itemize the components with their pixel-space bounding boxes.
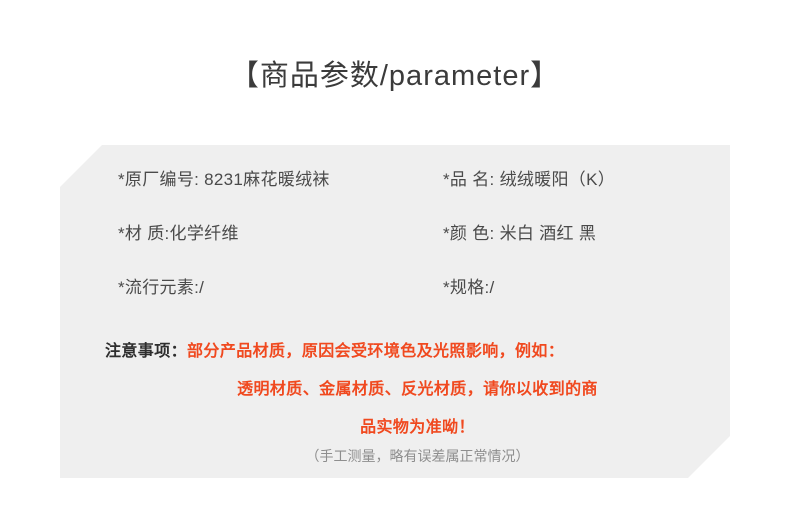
notice-label: 注意事项：: [105, 343, 187, 360]
product-parameter-page: 【商品参数/parameter】 *原厂编号: 8231麻花暖绒袜 *品 名: …: [0, 0, 790, 524]
parameter-table: *原厂编号: 8231麻花暖绒袜 *品 名: 绒绒暖阳（K） *材 质:化学纤维…: [118, 167, 730, 329]
notice-text-1: 部分产品材质，原因会受环境色及光照影响，例如：: [187, 343, 564, 360]
notice-line-1: 注意事项：部分产品材质，原因会受环境色及光照影响，例如：: [105, 333, 730, 371]
notice-block: 注意事项：部分产品材质，原因会受环境色及光照影响，例如： 透明材质、金属材质、反…: [105, 333, 730, 447]
page-title: 【商品参数/parameter】: [0, 56, 790, 96]
param-material: *材 质:化学纤维: [118, 221, 239, 247]
param-trend-element: *流行元素:/: [118, 275, 204, 301]
param-factory-code: *原厂编号: 8231麻花暖绒袜: [118, 167, 330, 193]
table-row: *流行元素:/ *规格:/: [118, 275, 730, 329]
notice-line-3: 品实物为准呦！: [105, 409, 730, 447]
param-color: *颜 色: 米白 酒红 黑: [443, 221, 596, 247]
table-row: *原厂编号: 8231麻花暖绒袜 *品 名: 绒绒暖阳（K）: [118, 167, 730, 221]
measurement-footnote: （手工测量，略有误差属正常情况）: [105, 445, 730, 467]
param-product-name: *品 名: 绒绒暖阳（K）: [443, 167, 615, 193]
table-row: *材 质:化学纤维 *颜 色: 米白 酒红 黑: [118, 221, 730, 275]
parameter-card: *原厂编号: 8231麻花暖绒袜 *品 名: 绒绒暖阳（K） *材 质:化学纤维…: [60, 145, 730, 478]
notice-line-2: 透明材质、金属材质、反光材质，请你以收到的商: [105, 371, 730, 409]
param-specification: *规格:/: [443, 275, 495, 301]
